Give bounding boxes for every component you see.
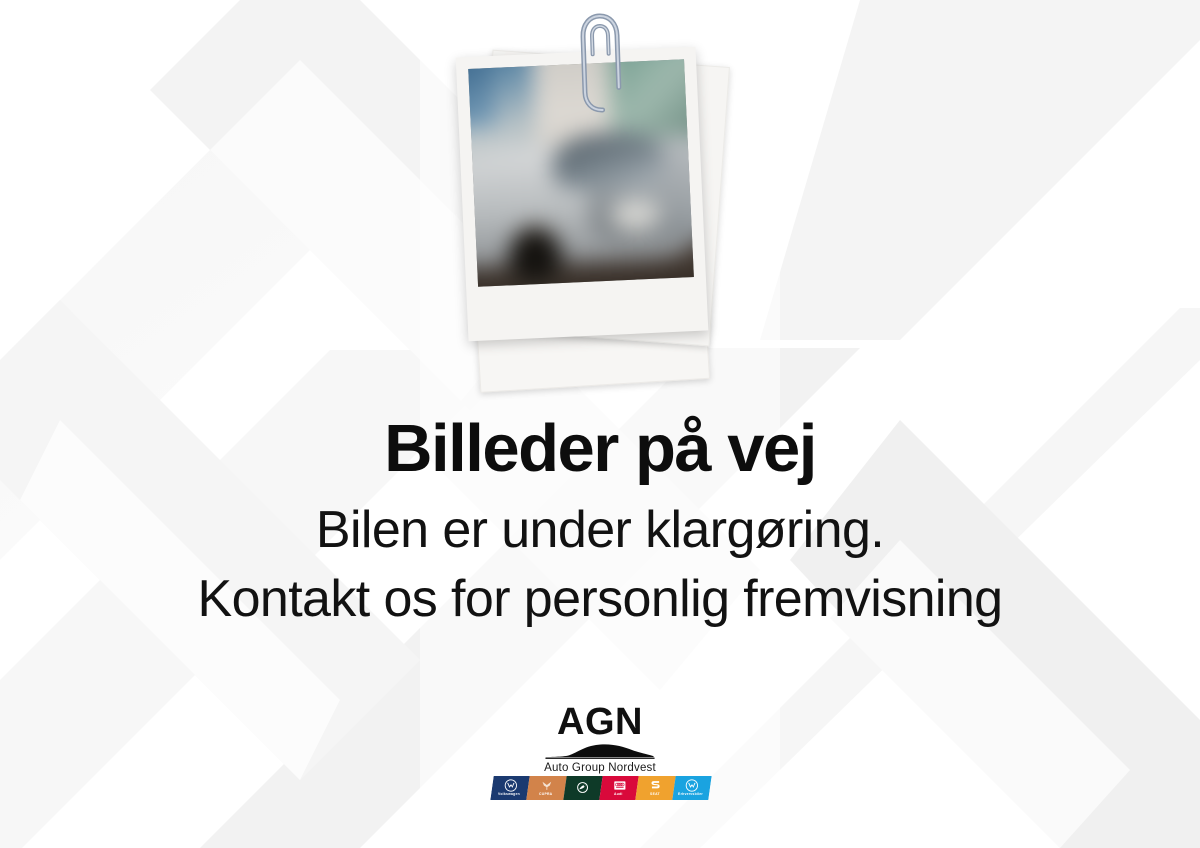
brand-label: Volkswagen bbox=[498, 793, 520, 796]
brand-tile-volkswagen: Volkswagen bbox=[490, 776, 530, 800]
audi-logo-icon bbox=[613, 779, 626, 792]
brand-tile-vw-erhvervsbiler: Erhvervsbiler bbox=[672, 776, 712, 800]
agn-logo: AGN Auto Group Nordvest bbox=[0, 704, 1200, 774]
brand-tile-seat: SEAT bbox=[636, 776, 676, 800]
brand-tile-audi: Audi bbox=[599, 776, 639, 800]
vw-logo-icon bbox=[504, 779, 517, 792]
logo-tagline: Auto Group Nordvest bbox=[0, 762, 1200, 774]
brand-tile-cupra: CUPRA bbox=[527, 776, 567, 800]
seat-logo-icon bbox=[649, 779, 662, 792]
brand-tile-skoda bbox=[563, 776, 603, 800]
brand-label: SEAT bbox=[650, 793, 660, 796]
brand-strip: Volkswagen CUPRA bbox=[490, 776, 711, 800]
brand-label: Audi bbox=[614, 793, 623, 796]
polaroid-photo-stack bbox=[430, 28, 770, 408]
paperclip-icon bbox=[576, 9, 626, 119]
subtitle-line-2: Kontakt os for personlig fremvisning bbox=[0, 565, 1200, 634]
car-silhouette-icon bbox=[544, 741, 656, 761]
brand-label: Erhvervsbiler bbox=[678, 793, 703, 796]
page-subtitle: Bilen er under klargøring. Kontakt os fo… bbox=[0, 496, 1200, 633]
skoda-logo-icon bbox=[576, 781, 589, 794]
page-title: Billeder på vej bbox=[0, 414, 1200, 484]
logo-wordmark: AGN bbox=[0, 704, 1200, 740]
image-placeholder-card: Billeder på vej Bilen er under klargørin… bbox=[0, 0, 1200, 848]
subtitle-line-1: Bilen er under klargøring. bbox=[0, 496, 1200, 565]
cupra-logo-icon bbox=[540, 779, 553, 792]
brand-label: CUPRA bbox=[539, 793, 552, 796]
vw-logo-icon bbox=[686, 779, 699, 792]
